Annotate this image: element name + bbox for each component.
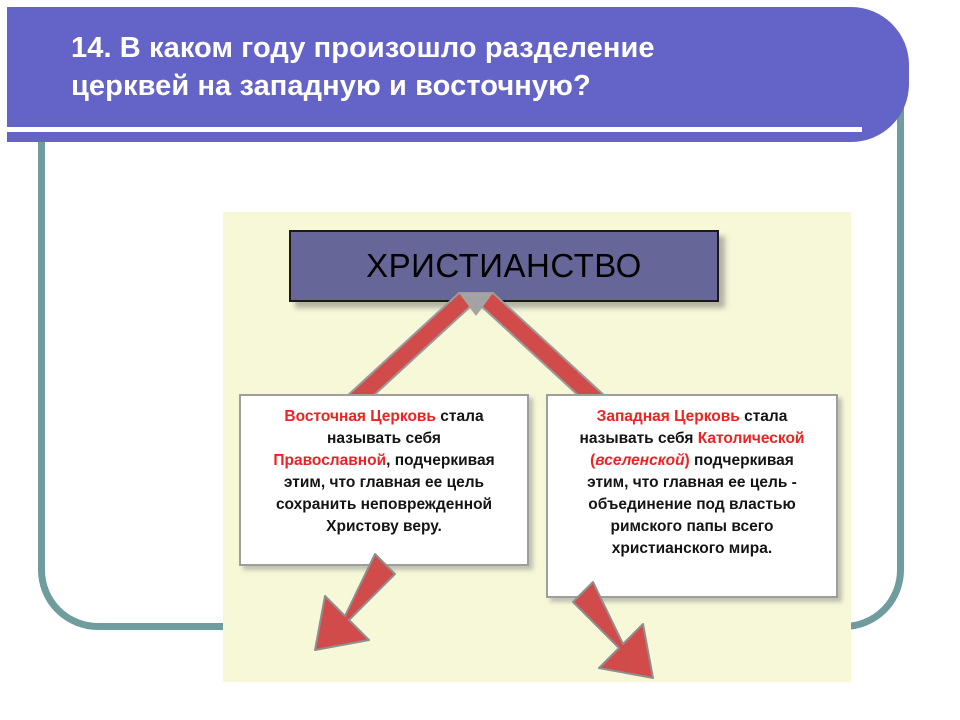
christianity-root-label: ХРИСТИАНСТВО	[366, 247, 642, 285]
west-line-3: (вселенской) подчеркивая	[556, 450, 828, 472]
west-line-7: христианского мира.	[556, 538, 828, 560]
east-church-box: Восточная Церковь сталаназывать себяПрав…	[239, 394, 529, 566]
diagram-panel: ХРИСТИАНСТВО Восточная Церковь сталаназы…	[223, 212, 851, 682]
east-line-2: называть себя	[249, 428, 519, 450]
west-line-5: объединение под властью	[556, 494, 828, 516]
west-line-1: Западная Церковь стала	[556, 406, 828, 428]
west-line-6: римского папы всего	[556, 516, 828, 538]
arrow-from-east-box	[223, 552, 553, 692]
west-line-4: этим, что главная ее цель -	[556, 472, 828, 494]
east-line-6: Христову веру.	[249, 516, 519, 538]
title-banner: 14. В каком году произошло разделение це…	[7, 7, 909, 142]
east-line-3: Православной, подчеркивая	[249, 450, 519, 472]
east-line-1: Восточная Церковь стала	[249, 406, 519, 428]
east-line-5: сохранить неповрежденной	[249, 494, 519, 516]
west-church-box: Западная Церковь сталаназывать себя Като…	[546, 394, 838, 598]
page-title: 14. В каком году произошло разделение це…	[71, 29, 861, 106]
christianity-root-box: ХРИСТИАНСТВО	[289, 230, 719, 302]
arrow-from-west-box	[553, 580, 853, 710]
slide-frame: 14. В каком году произошло разделение це…	[38, 40, 904, 630]
west-line-2: называть себя Католической	[556, 428, 828, 450]
title-divider-rule	[7, 127, 862, 132]
east-line-4: этим, что главная ее цель	[249, 472, 519, 494]
